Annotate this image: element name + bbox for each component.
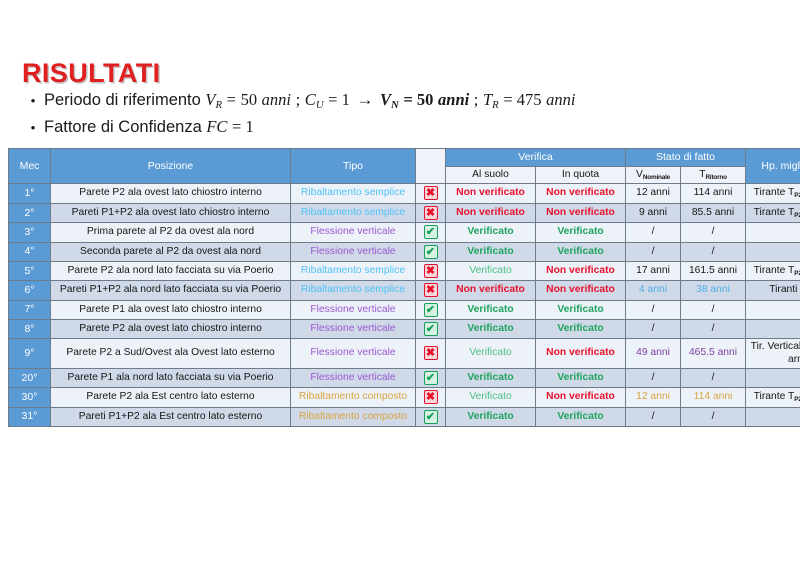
th-in-quota: In quota [536, 166, 626, 184]
in-quota-value: Verificato [557, 372, 603, 383]
tipo-label: Ribaltamento semplice [301, 284, 405, 295]
in-quota-value: Non verificato [546, 187, 615, 198]
cell-tipo: Flessione verticale [291, 223, 416, 242]
cell-in-quota: Non verificato [536, 339, 626, 369]
cell-status-icon[interactable]: ✖ [416, 339, 446, 369]
cell-t-ritorno: / [681, 368, 746, 387]
in-quota-value: Non verificato [546, 207, 615, 218]
table-row: 4°Seconda parete al P2 da ovest ala nord… [9, 242, 800, 261]
check-icon[interactable]: ✔ [424, 303, 438, 317]
cell-status-icon[interactable]: ✔ [416, 300, 446, 319]
cell-tipo: Ribaltamento semplice [291, 184, 416, 203]
cross-icon[interactable]: ✖ [424, 206, 438, 220]
cell-status-icon[interactable]: ✖ [416, 203, 446, 222]
al-suolo-value: Non verificato [456, 187, 525, 198]
cell-mec: 1° [9, 184, 51, 203]
cell-status-icon[interactable]: ✖ [416, 388, 446, 407]
cell-v-nominale: / [626, 242, 681, 261]
cell-v-nominale: / [626, 223, 681, 242]
cell-tipo: Flessione verticale [291, 368, 416, 387]
check-icon[interactable]: ✔ [424, 410, 438, 424]
check-icon[interactable]: ✔ [424, 245, 438, 259]
cell-posizione: Pareti P1+P2 ala nord lato facciata su v… [51, 281, 291, 300]
cell-t-ritorno: 465.5 anni [681, 339, 746, 369]
cell-al-suolo: Verificato [446, 300, 536, 319]
in-quota-value: Verificato [557, 246, 603, 257]
th-posizione: Posizione [51, 149, 291, 184]
cell-t-ritorno: / [681, 300, 746, 319]
cell-tipo: Ribaltamento semplice [291, 203, 416, 222]
cell-tipo: Flessione verticale [291, 339, 416, 369]
bullet-text-fattore: Fattore di Confidenza FC = 1 [44, 117, 254, 137]
cell-posizione: Parete P2 ala ovest lato chiostro intern… [51, 319, 291, 338]
cell-al-suolo: Non verificato [446, 184, 536, 203]
cross-icon[interactable]: ✖ [424, 283, 438, 297]
cell-v-nominale: / [626, 300, 681, 319]
cell-posizione: Prima parete al P2 da ovest ala nord [51, 223, 291, 242]
cell-hp-miglioramento: / [746, 300, 800, 319]
cell-hp-miglioramento: / [746, 242, 800, 261]
cell-posizione: Pareti P1+P2 ala Est centro lato esterno [51, 407, 291, 426]
bullet-item-periodo: • Periodo di riferimento VR = 50 anni ; … [22, 90, 782, 111]
cross-icon[interactable]: ✖ [424, 264, 438, 278]
cell-tipo: Ribaltamento composto [291, 407, 416, 426]
cell-mec: 4° [9, 242, 51, 261]
al-suolo-value: Verificato [469, 265, 511, 276]
th-tipo: Tipo [291, 149, 416, 184]
cell-hp-miglioramento: Tiranti TP2 e TP1 [746, 281, 800, 300]
cell-tipo: Flessione verticale [291, 300, 416, 319]
table-row: 1°Parete P2 ala ovest lato chiostro inte… [9, 184, 800, 203]
table-row: 2°Pareti P1+P2 ala ovest lato chiostro i… [9, 203, 800, 222]
al-suolo-value: Verificato [467, 246, 513, 257]
in-quota-value: Non verificato [546, 391, 615, 402]
cell-status-icon[interactable]: ✖ [416, 184, 446, 203]
tipo-label: Flessione verticale [310, 323, 395, 334]
cell-v-nominale: 9 anni [626, 203, 681, 222]
hp-prefix: Tirante T [754, 391, 795, 402]
cell-al-suolo: Verificato [446, 319, 536, 338]
cell-posizione: Parete P2 ala ovest lato chiostro intern… [51, 184, 291, 203]
cell-al-suolo: Verificato [446, 407, 536, 426]
al-suolo-value: Verificato [467, 323, 513, 334]
cell-t-ritorno: / [681, 407, 746, 426]
cell-status-icon[interactable]: ✖ [416, 261, 446, 280]
check-icon[interactable]: ✔ [424, 225, 438, 239]
cross-icon[interactable]: ✖ [424, 390, 438, 404]
cell-t-ritorno: 161.5 anni [681, 261, 746, 280]
cell-al-suolo: Non verificato [446, 203, 536, 222]
cell-in-quota: Non verificato [536, 184, 626, 203]
cell-status-icon[interactable]: ✔ [416, 407, 446, 426]
cell-v-nominale: 49 anni [626, 339, 681, 369]
th-al-suolo: Al suolo [446, 166, 536, 184]
cell-al-suolo: Verificato [446, 261, 536, 280]
cell-in-quota: Verificato [536, 407, 626, 426]
table-head: Mec Posizione Tipo Verifica Stato di fat… [9, 149, 800, 184]
cell-in-quota: Verificato [536, 319, 626, 338]
bullet-marker: • [22, 121, 44, 134]
in-quota-value: Verificato [557, 226, 603, 237]
hp-prefix: Tiranti T [769, 284, 800, 295]
cell-al-suolo: Non verificato [446, 281, 536, 300]
in-quota-value: Verificato [557, 411, 603, 422]
cell-v-nominale: / [626, 368, 681, 387]
tipo-label: Flessione verticale [310, 372, 395, 383]
cell-t-ritorno: 114 anni [681, 184, 746, 203]
cell-in-quota: Verificato [536, 368, 626, 387]
cell-mec: 2° [9, 203, 51, 222]
tipo-label: Ribaltamento composto [299, 391, 407, 402]
th-hp-miglioramento: Hp. miglioramento [746, 149, 800, 184]
bullet-list: • Periodo di riferimento VR = 50 anni ; … [22, 90, 782, 143]
al-suolo-value: Verificato [469, 391, 511, 402]
cell-al-suolo: Verificato [446, 368, 536, 387]
table-body: 1°Parete P2 ala ovest lato chiostro inte… [9, 184, 800, 426]
in-quota-value: Non verificato [546, 284, 615, 295]
tipo-label: Flessione verticale [310, 347, 395, 358]
hp-subscript: P2 [794, 212, 800, 219]
cell-al-suolo: Verificato [446, 223, 536, 242]
cell-v-nominale: 12 anni [626, 388, 681, 407]
cell-hp-miglioramento: / [746, 368, 800, 387]
cell-posizione: Parete P1 ala nord lato facciata su via … [51, 368, 291, 387]
cell-in-quota: Verificato [536, 223, 626, 242]
cell-posizione: Pareti P1+P2 ala ovest lato chiostro int… [51, 203, 291, 222]
th-t-ritorno: TRitorno [681, 166, 746, 184]
tipo-label: Ribaltamento semplice [301, 207, 405, 218]
cell-al-suolo: Verificato [446, 242, 536, 261]
cross-icon[interactable]: ✖ [424, 186, 438, 200]
cell-t-ritorno: 114 anni [681, 388, 746, 407]
cell-status-icon[interactable]: ✔ [416, 368, 446, 387]
cell-v-nominale: / [626, 407, 681, 426]
cell-mec: 31° [9, 407, 51, 426]
hp-subscript: P2 [794, 192, 800, 199]
tipo-label: Flessione verticale [310, 246, 395, 257]
th-mec: Mec [9, 149, 51, 184]
cell-v-nominale: 4 anni [626, 281, 681, 300]
cell-posizione: Parete P2 ala Est centro lato esterno [51, 388, 291, 407]
th-v-nominale-sub: Nominale [643, 174, 670, 181]
cell-tipo: Ribaltamento semplice [291, 261, 416, 280]
results-table: Mec Posizione Tipo Verifica Stato di fat… [8, 148, 800, 427]
cell-t-ritorno: 85.5 anni [681, 203, 746, 222]
cell-tipo: Ribaltamento semplice [291, 281, 416, 300]
cell-v-nominale: / [626, 319, 681, 338]
cell-mec: 30° [9, 388, 51, 407]
cell-posizione: Parete P1 ala ovest lato chiostro intern… [51, 300, 291, 319]
tipo-label: Flessione verticale [310, 304, 395, 315]
in-quota-value: Verificato [557, 323, 603, 334]
tipo-label: Ribaltamento composto [299, 411, 407, 422]
cell-al-suolo: Verificato [446, 388, 536, 407]
cell-mec: 7° [9, 300, 51, 319]
cell-mec: 6° [9, 281, 51, 300]
cell-mec: 8° [9, 319, 51, 338]
cell-tipo: Ribaltamento composto [291, 388, 416, 407]
table-row: 6°Pareti P1+P2 ala nord lato facciata su… [9, 281, 800, 300]
cell-mec: 3° [9, 223, 51, 242]
check-icon[interactable]: ✔ [424, 322, 438, 336]
cell-t-ritorno: / [681, 319, 746, 338]
cross-icon[interactable]: ✖ [424, 346, 438, 360]
cell-in-quota: Non verificato [536, 203, 626, 222]
al-suolo-value: Non verificato [456, 284, 525, 295]
table-row: 7°Parete P1 ala ovest lato chiostro inte… [9, 300, 800, 319]
al-suolo-value: Verificato [467, 372, 513, 383]
cell-in-quota: Non verificato [536, 388, 626, 407]
in-quota-value: Verificato [557, 304, 603, 315]
al-suolo-value: Non verificato [456, 207, 525, 218]
cell-in-quota: Non verificato [536, 281, 626, 300]
table-row: 9°Parete P2 a Sud/Ovest ala Ovest lato e… [9, 339, 800, 369]
cell-status-icon[interactable]: ✔ [416, 242, 446, 261]
cell-tipo: Flessione verticale [291, 319, 416, 338]
cell-in-quota: Non verificato [536, 261, 626, 280]
bullet-item-fattore: • Fattore di Confidenza FC = 1 [22, 117, 782, 137]
cell-hp-miglioramento: Tirante TP2 in sommità [746, 184, 800, 203]
hp-subscript: P2 [794, 396, 800, 403]
tipo-label: Flessione verticale [310, 226, 395, 237]
tipo-label: Ribaltamento semplice [301, 265, 405, 276]
hp-subscript: P2 [794, 270, 800, 277]
tipo-label: Ribaltamento semplice [301, 187, 405, 198]
table-row: 5°Parete P2 ala nord lato facciata su vi… [9, 261, 800, 280]
cell-hp-miglioramento: / [746, 223, 800, 242]
cell-hp-miglioramento: / [746, 319, 800, 338]
cell-mec: 9° [9, 339, 51, 369]
cell-t-ritorno: / [681, 223, 746, 242]
cell-hp-miglioramento: Tirante TP2 in sommità [746, 203, 800, 222]
th-v-nominale: VNominale [626, 166, 681, 184]
cell-in-quota: Verificato [536, 300, 626, 319]
cell-t-ritorno: / [681, 242, 746, 261]
cell-mec: 20° [9, 368, 51, 387]
cell-in-quota: Verificato [536, 242, 626, 261]
check-icon[interactable]: ✔ [424, 371, 438, 385]
cell-tipo: Flessione verticale [291, 242, 416, 261]
th-stato-di-fatto: Stato di fatto [626, 149, 746, 167]
cell-status-icon[interactable]: ✔ [416, 319, 446, 338]
table-row: 31°Pareti P1+P2 ala Est centro lato este… [9, 407, 800, 426]
th-status-icon [416, 149, 446, 184]
al-suolo-value: Verificato [467, 304, 513, 315]
cell-v-nominale: 12 anni [626, 184, 681, 203]
hp-prefix: Tirante T [754, 265, 795, 276]
cell-posizione: Parete P2 a Sud/Ovest ala Ovest lato est… [51, 339, 291, 369]
table-row: 20°Parete P1 ala nord lato facciata su v… [9, 368, 800, 387]
cell-mec: 5° [9, 261, 51, 280]
table-row: 30°Parete P2 ala Est centro lato esterno… [9, 388, 800, 407]
th-t-ritorno-sub: Ritorno [706, 174, 727, 181]
in-quota-value: Non verificato [546, 265, 615, 276]
slide-canvas: RISULTATI • Periodo di riferimento VR = … [0, 0, 800, 565]
cell-hp-miglioramento: Tirante TP2 in sommità [746, 388, 800, 407]
cell-status-icon[interactable]: ✔ [416, 223, 446, 242]
bullet-text-periodo: Periodo di riferimento VR = 50 anni ; CU… [44, 90, 575, 111]
al-suolo-value: Verificato [467, 226, 513, 237]
cell-v-nominale: 17 anni [626, 261, 681, 280]
hp-prefix: Tirante T [754, 187, 795, 198]
cell-posizione: Seconda parete al P2 da ovest ala nord [51, 242, 291, 261]
cell-hp-miglioramento: / [746, 407, 800, 426]
cell-hp-miglioramento: Tirante TP2 in sommità [746, 261, 800, 280]
al-suolo-value: Verificato [469, 347, 511, 358]
bullet-marker: • [22, 94, 44, 107]
table-row: 8°Parete P2 ala ovest lato chiostro inte… [9, 319, 800, 338]
al-suolo-value: Verificato [467, 411, 513, 422]
table-row: 3°Prima parete al P2 da ovest ala nordFl… [9, 223, 800, 242]
cell-hp-miglioramento: Tir. Verticale o intonaco armato [746, 339, 800, 369]
hp-prefix: Tirante T [754, 207, 795, 218]
cell-t-ritorno: 38 anni [681, 281, 746, 300]
in-quota-value: Non verificato [546, 347, 615, 358]
th-v-nominale-base: V [636, 169, 643, 180]
cell-status-icon[interactable]: ✖ [416, 281, 446, 300]
cell-posizione: Parete P2 ala nord lato facciata su via … [51, 261, 291, 280]
cell-al-suolo: Verificato [446, 339, 536, 369]
page-title: RISULTATI [22, 58, 161, 89]
th-verifica: Verifica [446, 149, 626, 167]
table-header-row-groups: Mec Posizione Tipo Verifica Stato di fat… [9, 149, 800, 167]
